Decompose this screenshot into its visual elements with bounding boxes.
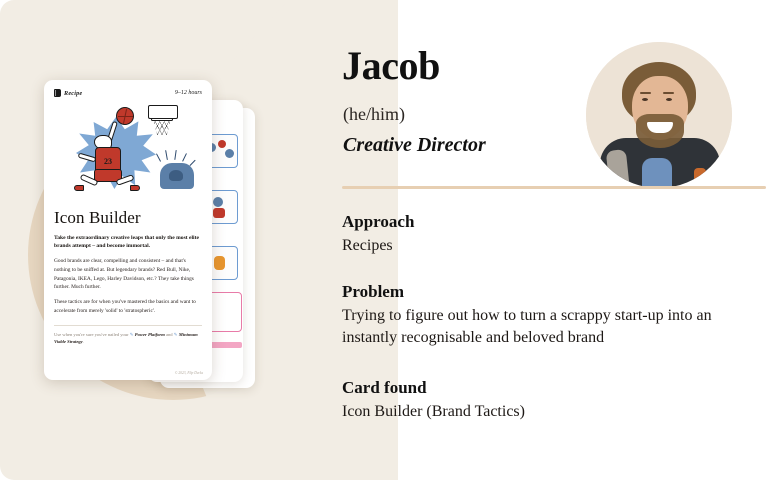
card-kind-label: Recipe (64, 90, 82, 97)
player-shoe-left (74, 185, 84, 191)
card-footer-link-1[interactable]: Power Platform (135, 332, 165, 337)
card-footer-suffix: . (83, 339, 84, 344)
section-divider (342, 186, 766, 189)
card-footer-note: Use when you're sure you've nailed your … (54, 331, 202, 346)
section-problem-heading: Problem (342, 282, 768, 302)
card-copyright: © 2023, Flip Decks (175, 371, 203, 375)
section-card-found-heading: Card found (342, 378, 525, 398)
section-approach-heading: Approach (342, 212, 414, 232)
backboard-icon (148, 105, 178, 119)
recipe-card[interactable]: Recipe 9–12 hours 23 (44, 80, 212, 380)
profile-details: Jacob (he/him) Creative Director Approac… (340, 0, 768, 480)
card-paragraph-2: These tactics are for when you've master… (54, 298, 202, 316)
tool-icon-1: ✎ (130, 332, 134, 337)
card-title: Icon Builder (54, 209, 202, 228)
rim-icon (151, 118, 173, 121)
card-illustration: 23 (54, 101, 202, 205)
jersey-number: 23 (96, 157, 120, 166)
avatar-shirt (642, 158, 672, 188)
player-shoe-right (130, 185, 140, 191)
card-duration-label: 9–12 hours (175, 90, 202, 96)
card-divider (54, 325, 202, 326)
profile-card-page: Recipe 9–12 hours 23 (0, 0, 768, 480)
deck-icon (54, 89, 61, 97)
section-card-found-body: Icon Builder (Brand Tactics) (342, 401, 525, 422)
profile-pronouns: (he/him) (343, 104, 405, 125)
section-problem: Problem Trying to figure out how to turn… (342, 282, 768, 348)
crowd-icon (160, 163, 194, 189)
basketball-icon (116, 107, 134, 125)
card-stack: Recipe 9–12 hours 23 (0, 0, 330, 480)
card-footer-mid: and (166, 332, 173, 337)
section-approach: Approach Recipes (342, 212, 414, 257)
avatar (586, 42, 732, 188)
net-icon (153, 121, 171, 135)
section-approach-body: Recipes (342, 235, 414, 256)
profile-name: Jacob (342, 46, 440, 86)
card-header: Recipe 9–12 hours (54, 89, 202, 97)
card-subtitle: Take the extraordinary creative leaps th… (54, 234, 202, 251)
section-problem-body: Trying to figure out how to turn a scrap… (342, 305, 768, 348)
card-footer-prefix: Use when you're sure you've nailed your (54, 332, 129, 337)
card-paragraph-1: Good brands are clear, compelling and co… (54, 257, 202, 292)
profile-role: Creative Director (343, 134, 486, 157)
section-card-found: Card found Icon Builder (Brand Tactics) (342, 378, 525, 423)
avatar-orange-detail (694, 168, 706, 186)
tool-icon-2: ✎ (174, 332, 178, 337)
